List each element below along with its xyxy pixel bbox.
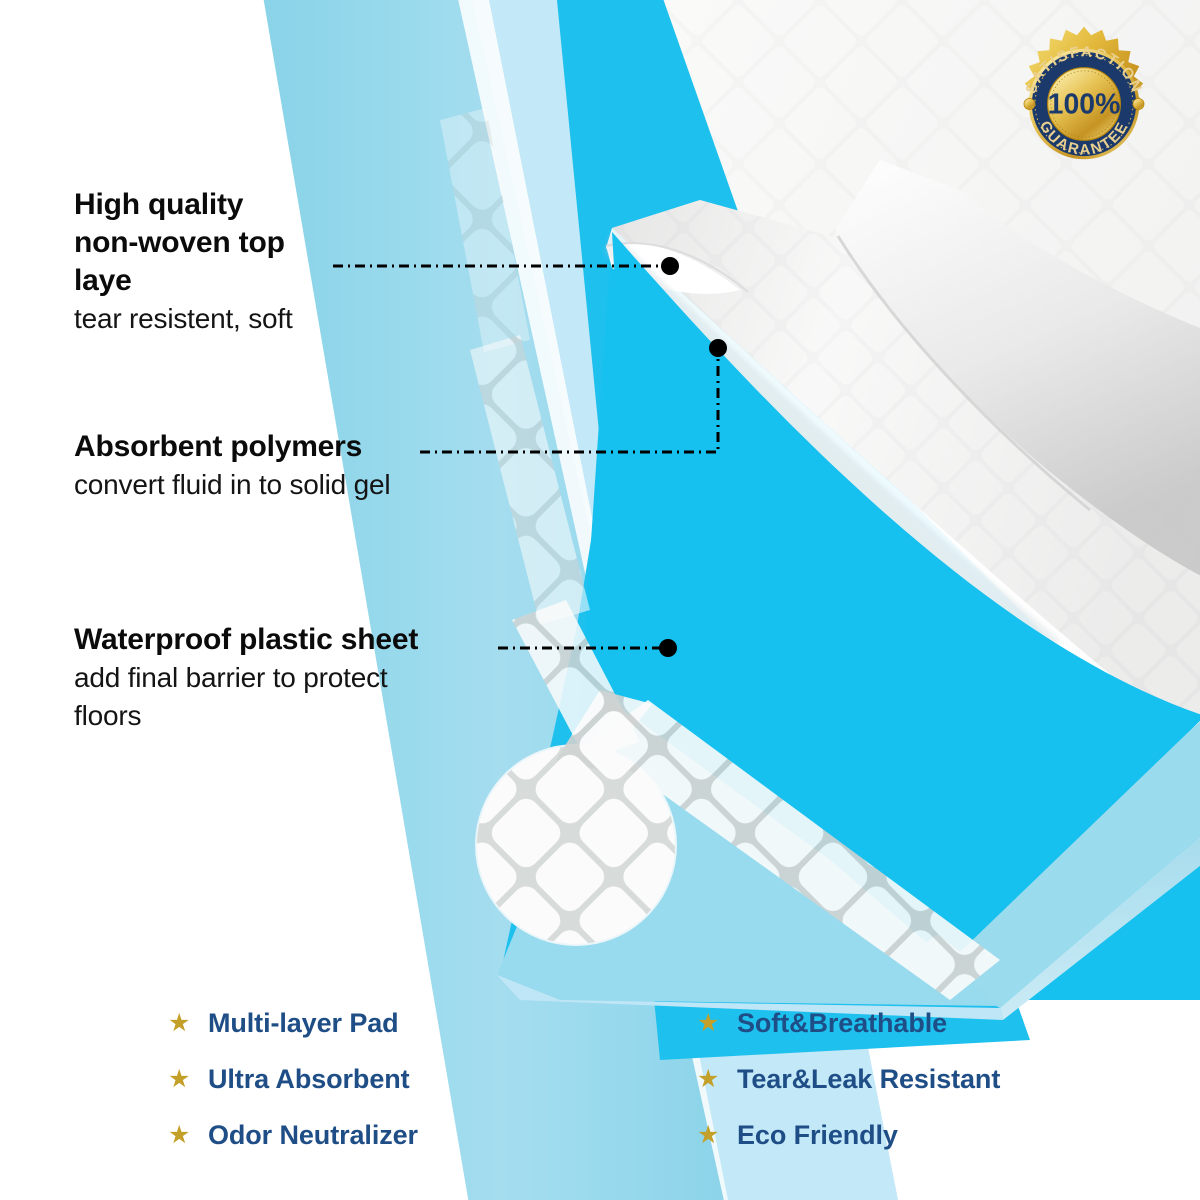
feature-item: ★ Eco Friendly	[697, 1107, 1000, 1163]
feature-column-left: ★ Multi-layer Pad ★ Ultra Absorbent ★ Od…	[168, 995, 418, 1163]
feature-label: Ultra Absorbent	[208, 1064, 410, 1095]
feature-label: Eco Friendly	[737, 1120, 898, 1151]
feature-label: Multi-layer Pad	[208, 1008, 399, 1039]
product-infographic: High quality non-woven top laye tear res…	[0, 0, 1200, 1200]
star-icon: ★	[168, 1011, 208, 1036]
star-icon: ★	[697, 1123, 737, 1148]
callout-desc: add final barrier to protect floors	[74, 659, 514, 735]
feature-item: ★ Odor Neutralizer	[168, 1107, 418, 1163]
feature-column-right: ★ Soft&Breathable ★ Tear&Leak Resistant …	[697, 995, 1000, 1163]
callout-waterproof-plastic-sheet: Waterproof plastic sheet add final barri…	[74, 621, 514, 735]
star-icon: ★	[697, 1067, 737, 1092]
feature-item: ★ Soft&Breathable	[697, 995, 1000, 1051]
feature-item: ★ Ultra Absorbent	[168, 1051, 418, 1107]
satisfaction-guarantee-badge: SATISFACTION GUARANTEE 100%	[1005, 25, 1163, 183]
callout-title: Absorbent polymers	[74, 428, 504, 466]
callout-title: High quality non-woven top laye	[74, 186, 374, 300]
badge-center-text: 100%	[1048, 88, 1121, 120]
callout-non-woven-top-layer: High quality non-woven top laye tear res…	[74, 186, 374, 338]
callout-desc: convert fluid in to solid gel	[74, 466, 504, 504]
feature-label: Tear&Leak Resistant	[737, 1064, 1000, 1095]
callout-absorbent-polymers: Absorbent polymers convert fluid in to s…	[74, 428, 504, 504]
feature-label: Soft&Breathable	[737, 1008, 947, 1039]
feature-label: Odor Neutralizer	[208, 1120, 418, 1151]
leader-non-woven	[333, 257, 679, 275]
leader-waterproof	[498, 639, 677, 657]
callout-desc: tear resistent, soft	[74, 300, 374, 338]
feature-item: ★ Multi-layer Pad	[168, 995, 418, 1051]
callout-title: Waterproof plastic sheet	[74, 621, 514, 659]
feature-list: ★ Multi-layer Pad ★ Ultra Absorbent ★ Od…	[0, 995, 1200, 1175]
feature-item: ★ Tear&Leak Resistant	[697, 1051, 1000, 1107]
star-icon: ★	[168, 1067, 208, 1092]
star-icon: ★	[168, 1123, 208, 1148]
star-icon: ★	[697, 1011, 737, 1036]
